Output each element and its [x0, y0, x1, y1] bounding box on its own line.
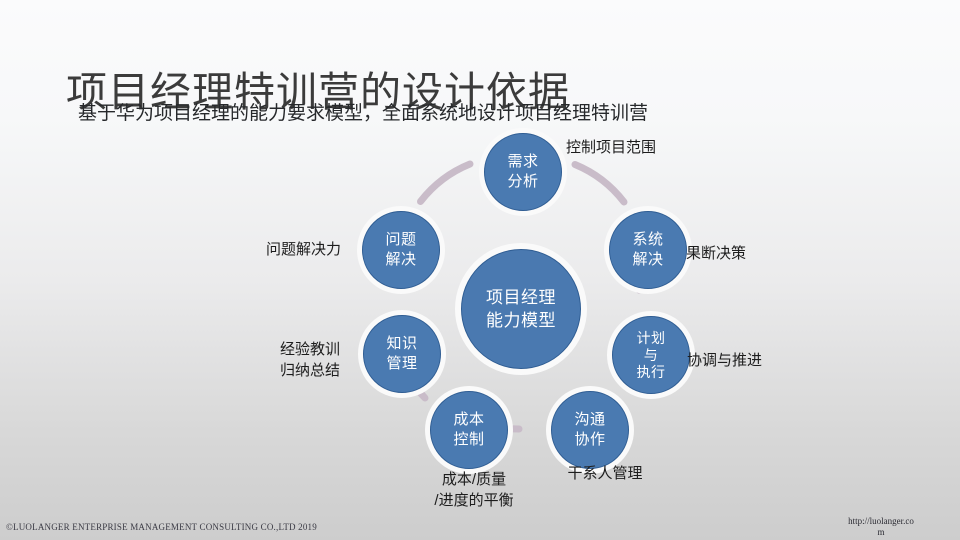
- node-communication[interactable]: 沟通 协作: [551, 391, 629, 469]
- center-node-label: 项目经理 能力模型: [486, 286, 556, 332]
- center-node-capability-model[interactable]: 项目经理 能力模型: [461, 249, 581, 369]
- footer-copyright: ©LUOLANGER ENTERPRISE MANAGEMENT CONSULT…: [6, 521, 317, 533]
- node-communication-label: 沟通 协作: [574, 410, 605, 450]
- node-problem-solving[interactable]: 问题 解决: [362, 211, 440, 289]
- caption-requirement-analysis: 控制项目范围: [566, 137, 656, 158]
- node-cost-control-label: 成本 控制: [453, 410, 484, 450]
- node-knowledge-management[interactable]: 知识 管理: [363, 315, 441, 393]
- caption-problem-solving: 问题解决力: [126, 239, 341, 260]
- node-systematic-solving[interactable]: 系统 解决: [609, 211, 687, 289]
- footer-url[interactable]: http://luolanger.com: [848, 516, 914, 538]
- caption-plan-and-execute: 协调与推进: [687, 350, 762, 371]
- slide-canvas: 项目经理特训营的设计依据 基于华为项目经理的能力要求模型，全面系统地设计项目经理…: [0, 0, 960, 540]
- capability-model-diagram: 项目经理 能力模型 需求 分析 系统 解决 计划 与 执行 沟通 协作 成本 控…: [0, 0, 960, 540]
- node-requirement-analysis[interactable]: 需求 分析: [484, 133, 562, 211]
- node-systematic-solving-label: 系统 解决: [632, 230, 663, 270]
- caption-cost-control: 成本/质量 /进度的平衡: [379, 469, 569, 511]
- node-problem-solving-label: 问题 解决: [385, 230, 416, 270]
- caption-systematic-solving: 果断决策: [686, 243, 746, 264]
- node-cost-control[interactable]: 成本 控制: [430, 391, 508, 469]
- caption-knowledge-management: 经验教训 归纳总结: [140, 339, 340, 381]
- node-plan-and-execute-label: 计划 与 执行: [637, 330, 666, 381]
- node-plan-and-execute[interactable]: 计划 与 执行: [612, 316, 690, 394]
- node-requirement-analysis-label: 需求 分析: [507, 152, 538, 192]
- node-knowledge-management-label: 知识 管理: [386, 334, 417, 374]
